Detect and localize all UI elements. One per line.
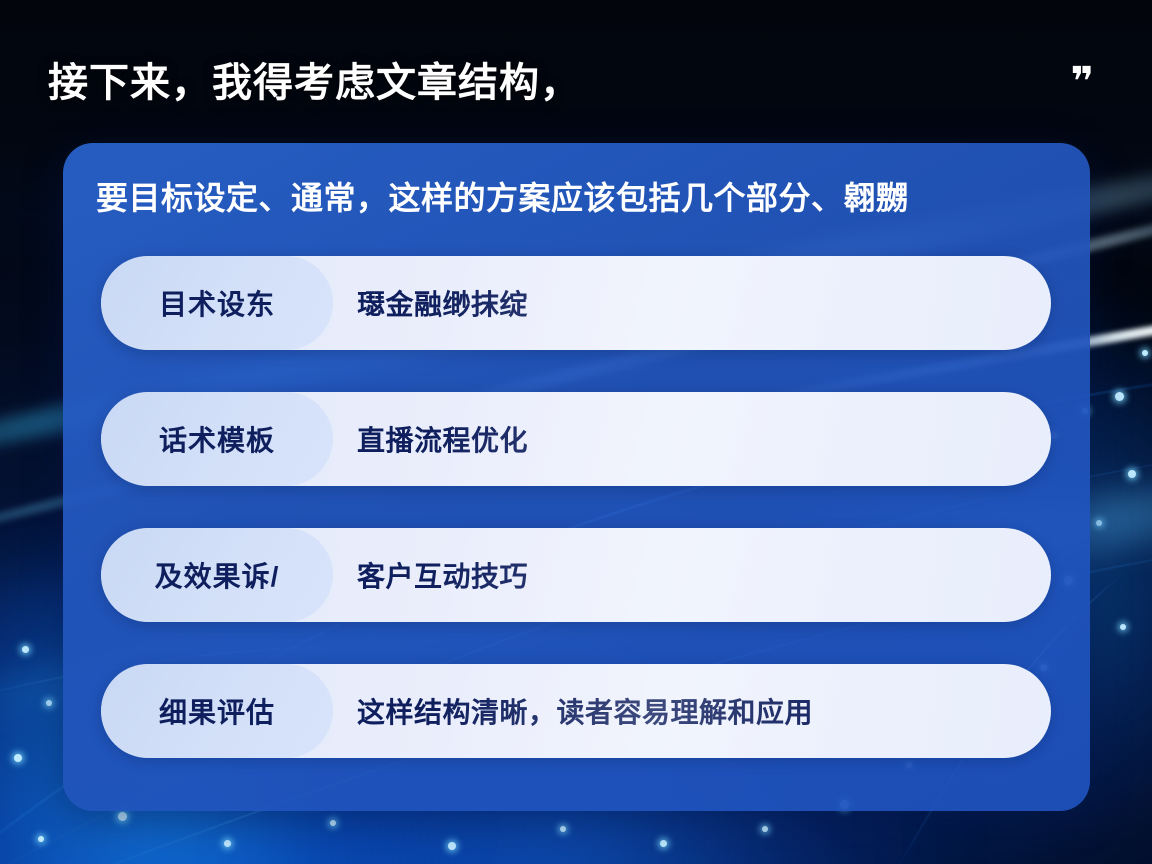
row-content-text: 这样结构清晰，读者容易理解和应用 <box>333 691 813 731</box>
row-label-text: 目术设东 <box>159 283 275 323</box>
list-item[interactable]: 及效果诉/ 客户互动技巧 <box>101 528 1051 622</box>
row-label-text: 细果评估 <box>159 691 275 731</box>
page-title: 接下来，我得考虑文章结构， <box>48 50 581 108</box>
content-panel: 要目标设定、通常，这样的方案应该包括几个部分、翱嬲 目术设东 璱金融缈抹绽 话术… <box>63 143 1090 811</box>
row-label-text: 话术模板 <box>159 419 275 459</box>
slide-canvas: 接下来，我得考虑文章结构， ❞ 要目标设定、通常，这样的方案应该包括几个部分、翱… <box>0 0 1152 864</box>
row-content-text: 璱金融缈抹绽 <box>333 283 528 323</box>
row-label-pill: 目术设东 <box>101 256 333 350</box>
row-label-pill: 细果评估 <box>101 664 333 758</box>
list-item[interactable]: 细果评估 这样结构清晰，读者容易理解和应用 <box>101 664 1051 758</box>
row-label-text: 及效果诉/ <box>155 555 280 595</box>
row-label-pill: 及效果诉/ <box>101 528 333 622</box>
quote-mark-icon: ❞ <box>1071 62 1092 102</box>
row-content-text: 直播流程优化 <box>333 419 528 459</box>
panel-subtitle: 要目标设定、通常，这样的方案应该包括几个部分、翱嬲 <box>96 173 1056 219</box>
row-content-text: 客户互动技巧 <box>333 555 528 595</box>
row-label-pill: 话术模板 <box>101 392 333 486</box>
list-item[interactable]: 目术设东 璱金融缈抹绽 <box>101 256 1051 350</box>
list-item[interactable]: 话术模板 直播流程优化 <box>101 392 1051 486</box>
content-row-list: 目术设东 璱金融缈抹绽 话术模板 直播流程优化 及效果诉/ 客户互动技巧 <box>101 256 1051 758</box>
